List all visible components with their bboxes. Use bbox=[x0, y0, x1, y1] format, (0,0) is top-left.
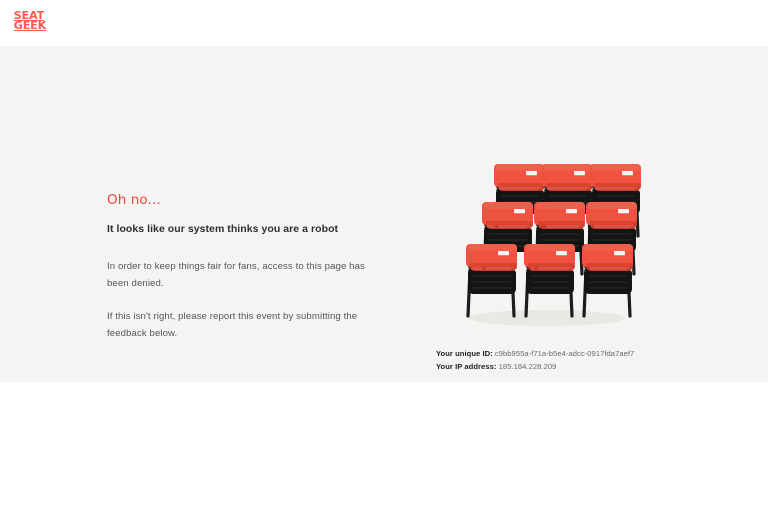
error-paragraph-2: If this isn't right, please report this … bbox=[107, 309, 377, 342]
hero-copy: Oh no... It looks like our system thinks… bbox=[107, 192, 377, 342]
error-heading: Oh no... bbox=[107, 192, 377, 208]
stadium-seats-illustration bbox=[452, 158, 642, 338]
ip-address-value: 185.184.228.209 bbox=[499, 362, 557, 371]
page-header: SEAT GEEK bbox=[0, 0, 768, 46]
error-paragraph-1: In order to keep things fair for fans, a… bbox=[107, 259, 377, 292]
logo-line-geek: GEEK bbox=[14, 21, 46, 31]
why-section: Why is this occurring ? You are sending … bbox=[0, 382, 768, 512]
unique-id-row: Your unique ID: c9bb955a-f71a-b5e4-adcc-… bbox=[436, 347, 634, 360]
error-subheading: It looks like our system thinks you are … bbox=[107, 223, 377, 235]
visitor-meta: Your unique ID: c9bb955a-f71a-b5e4-adcc-… bbox=[436, 347, 634, 374]
ip-address-row: Your IP address: 185.184.228.209 bbox=[436, 360, 634, 373]
hero-section: Oh no... It looks like our system thinks… bbox=[0, 46, 768, 382]
ip-address-label: Your IP address: bbox=[436, 362, 496, 371]
unique-id-label: Your unique ID: bbox=[436, 349, 493, 358]
unique-id-value: c9bb955a-f71a-b5e4-adcc-0917fda7aef7 bbox=[495, 349, 634, 358]
seatgeek-logo[interactable]: SEAT GEEK bbox=[14, 11, 46, 30]
